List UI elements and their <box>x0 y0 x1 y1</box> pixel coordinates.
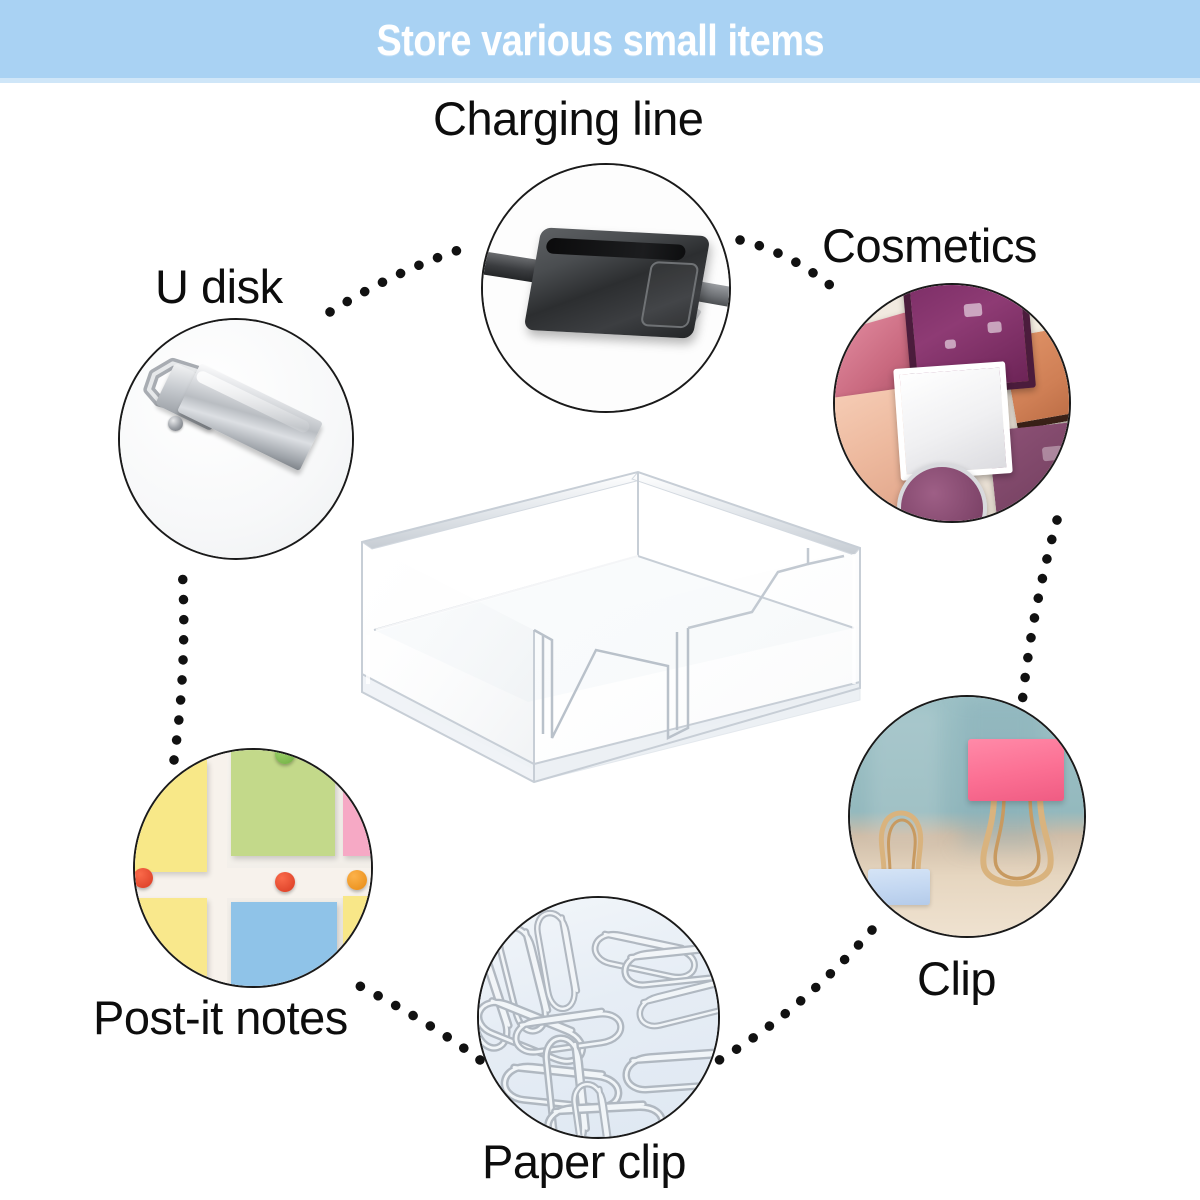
connector-cosmetics-clip <box>1022 520 1057 704</box>
push-pin-red-center <box>275 872 295 892</box>
photo-circle-cosmetics <box>833 283 1071 523</box>
paper-clip-pile <box>479 898 720 1139</box>
cosmetics-pan-white <box>893 361 1013 481</box>
u-disk-rivet <box>168 416 183 431</box>
u-disk-photo <box>120 320 352 558</box>
paper-clips-photo <box>479 898 718 1137</box>
sticky-note-yellow-bottom-left <box>133 898 207 988</box>
photo-circle-u-disk <box>118 318 354 560</box>
board-groove-horizontal <box>135 868 371 898</box>
binder-clips-photo <box>850 697 1084 936</box>
sticky-note-yellow-top-left <box>133 760 207 872</box>
charging-adapter-brick <box>523 227 710 338</box>
product-infographic: Store various small items Charging line … <box>0 0 1200 1200</box>
cosmetics-photo <box>835 285 1069 521</box>
label-cosmetics: Cosmetics <box>822 222 1037 269</box>
binder-clip-blue <box>868 795 934 905</box>
photo-circle-charging-line <box>481 163 731 413</box>
push-pin-orange <box>347 870 367 890</box>
post-it-notes-photo <box>135 750 371 986</box>
connector-postit-udisk <box>174 566 184 760</box>
push-pin-red-left <box>133 868 153 888</box>
binder-clip-pink-plate <box>968 739 1064 801</box>
label-u-disk: U disk <box>155 263 283 310</box>
binder-clip-pink <box>968 739 1066 897</box>
connector-paperclip-postit <box>352 982 480 1060</box>
banner-bottom-strip <box>0 78 1200 83</box>
sticky-note-yellow-bottom-right <box>343 896 373 988</box>
photo-circle-post-it-notes <box>133 748 373 988</box>
connector-clip-paperclip <box>716 930 872 1062</box>
label-paper-clip: Paper clip <box>482 1138 686 1185</box>
photo-circle-paper-clip <box>477 896 720 1139</box>
header-banner: Store various small items <box>0 0 1200 82</box>
photo-circle-clip <box>848 695 1086 938</box>
sticky-note-pink <box>343 748 373 856</box>
label-post-it-notes: Post-it notes <box>93 994 348 1041</box>
binder-clip-blue-plate <box>868 869 930 905</box>
sticky-note-blue <box>231 902 337 988</box>
label-clip: Clip <box>917 955 996 1002</box>
connector-udisk-charging <box>330 245 474 312</box>
page-title: Store various small items <box>376 16 824 66</box>
acrylic-memo-holder <box>338 452 882 830</box>
charging-adapter-photo <box>483 165 729 411</box>
sticky-note-green <box>231 748 335 856</box>
label-charging-line: Charging line <box>433 95 703 142</box>
